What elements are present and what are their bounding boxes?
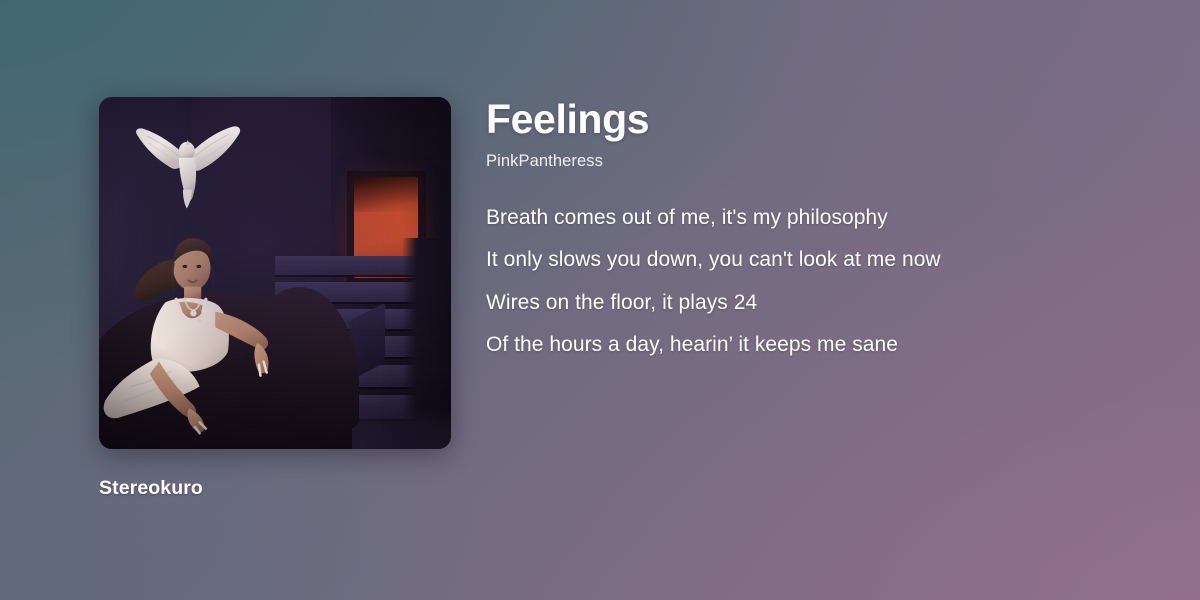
lyric-line: Breath comes out of me, it's my philosop…	[486, 197, 1146, 240]
lyric-line: Wires on the floor, it plays 24	[486, 282, 1146, 325]
lyrics-block: Breath comes out of me, it's my philosop…	[486, 197, 1146, 367]
lyric-line: Of the hours a day, hearin’ it keeps me …	[486, 324, 1146, 367]
page-title: Feelings	[486, 97, 1146, 143]
album-caption: Stereokuro	[99, 477, 459, 500]
track-info-column: Feelings PinkPantheress Breath comes out…	[486, 97, 1146, 367]
track-artist: PinkPantheress	[486, 152, 1146, 171]
lyric-line: It only slows you down, you can't look a…	[486, 239, 1146, 282]
artwork-film-grain	[99, 97, 451, 449]
album-cover-artwork[interactable]	[99, 97, 451, 449]
album-art-column: Stereokuro	[99, 97, 459, 500]
now-playing-card: Stereokuro Feelings PinkPantheress Breat…	[0, 0, 1200, 600]
